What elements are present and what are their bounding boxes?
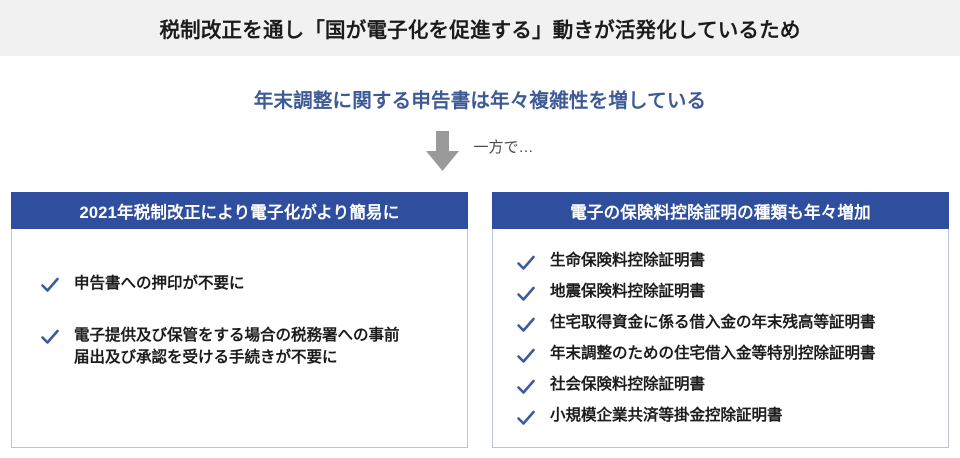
card-body-left: 申告書への押印が不要に 電子提供及び保管をする場合の税務署への事前 届出及び承認… (12, 229, 467, 446)
list-item: 生命保険料控除証明書 (516, 251, 948, 273)
card-body-right: 生命保険料控除証明書 地震保険料控除証明書 住宅取得資金に係る借入金の年末残高等… (493, 229, 948, 446)
card-header-right: 電子の保険料控除証明の種類も年々増加 (492, 192, 949, 229)
card-insurance-certificates: 電子の保険料控除証明の種類も年々増加 生命保険料控除証明書 地震保険料控除証明書… (492, 192, 949, 448)
arrow-down-icon (426, 131, 459, 171)
list-item-label: 地震保険料控除証明書 (550, 282, 705, 303)
card-tax-reform-2021: 2021年税制改正により電子化がより簡易に 申告書への押印が不要に 電子提供及び… (11, 192, 468, 448)
check-icon (516, 408, 536, 428)
banner-title: 税制改正を通し「国が電子化を促進する」動きが活発化しているため (159, 13, 800, 43)
check-icon (516, 377, 536, 397)
list-item: 地震保険料控除証明書 (516, 282, 948, 304)
list-item-label: 申告書への押印が不要に (74, 273, 245, 295)
card-header-title-left: 2021年税制改正により電子化がより簡易に (80, 199, 400, 223)
list-item: 電子提供及び保管をする場合の税務署への事前 届出及び承認を受ける手続きが不要に (40, 325, 467, 369)
list-item-label: 生命保険料控除証明書 (550, 251, 705, 272)
list-item: 社会保険料控除証明書 (516, 375, 948, 397)
subtitle-text: 年末調整に関する申告書は年々複雑性を増している (254, 84, 707, 113)
top-banner: 税制改正を通し「国が電子化を促進する」動きが活発化しているため (0, 0, 960, 56)
list-item-label: 電子提供及び保管をする場合の税務署への事前 届出及び承認を受ける手続きが不要に (74, 325, 400, 369)
card-header-left: 2021年税制改正により電子化がより簡易に (11, 192, 468, 229)
subtitle-section: 年末調整に関する申告書は年々複雑性を増している (0, 84, 960, 113)
list-item: 年末調整のための住宅借入金等特別控除証明書 (516, 344, 948, 366)
check-icon (40, 327, 60, 347)
check-icon (516, 253, 536, 273)
list-item: 小規模企業共済等掛金控除証明書 (516, 406, 948, 428)
list-item-label: 小規模企業共済等掛金控除証明書 (550, 406, 783, 427)
transition-section: 一方で… (0, 128, 960, 174)
list-item-label: 年末調整のための住宅借入金等特別控除証明書 (550, 344, 876, 365)
check-icon (516, 315, 536, 335)
check-icon (516, 346, 536, 366)
list-item-label: 住宅取得資金に係る借入金の年末残高等証明書 (550, 313, 876, 334)
card-header-title-right: 電子の保険料控除証明の種類も年々増加 (570, 199, 871, 223)
transition-caption: 一方で… (473, 136, 533, 157)
check-icon (40, 275, 60, 295)
list-item: 申告書への押印が不要に (40, 273, 467, 295)
list-item-label: 社会保険料控除証明書 (550, 375, 705, 396)
list-item: 住宅取得資金に係る借入金の年末残高等証明書 (516, 313, 948, 335)
check-icon (516, 284, 536, 304)
